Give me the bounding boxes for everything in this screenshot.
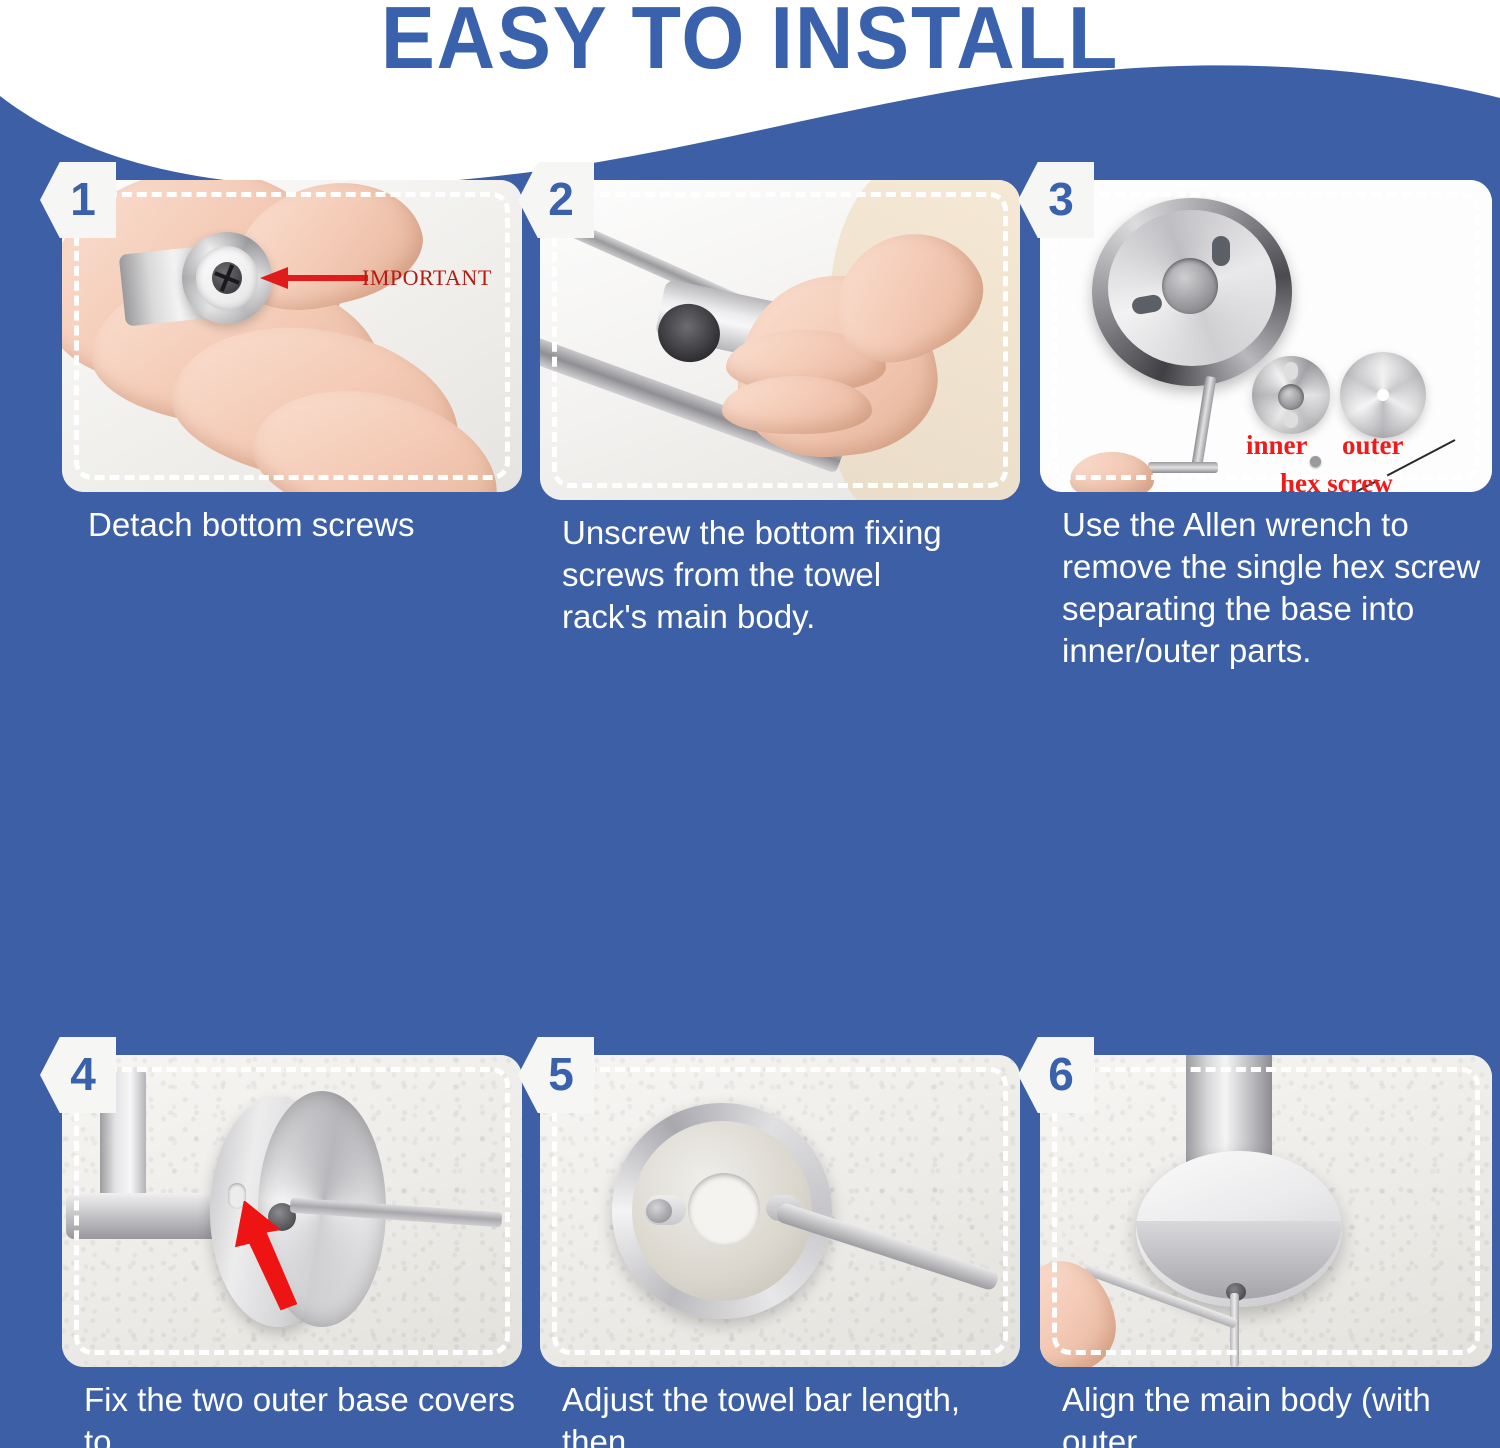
- infographic-page: EASY TO INSTALL: [0, 0, 1500, 1448]
- important-arrow-icon: [258, 264, 370, 292]
- step-4-caption: Fix the two outer base covers to the mai…: [62, 1379, 522, 1448]
- step-2-scene: [540, 180, 1020, 500]
- outer-disc-center-hole: [1377, 389, 1389, 401]
- inner-disc-slot: [1284, 412, 1298, 428]
- step-3-caption: Use the Allen wrench to remove the singl…: [1040, 504, 1492, 672]
- allen-wrench-short-arm: [1148, 462, 1218, 473]
- step-5-caption: Adjust the towel bar length, then hold t…: [540, 1379, 1020, 1448]
- step-card-4: 4 Fix the two outer base covers to the m…: [62, 1055, 522, 1448]
- hex-screw-part: [1310, 456, 1321, 467]
- step-3-scene: inner outer hex screw: [1040, 180, 1492, 492]
- step-2-photo: [540, 180, 1020, 500]
- allen-wrench-long-arm: [1230, 1293, 1239, 1367]
- step-number-1: 1: [60, 176, 96, 224]
- inner-base-center-hole: [688, 1173, 760, 1245]
- steps-grid: IMPORTANT 1 Detach bottom screws: [0, 180, 1500, 1448]
- hex-hole-slot: [1212, 236, 1230, 266]
- inner-disc-center-hole: [1278, 384, 1304, 410]
- outer-part-label: outer: [1342, 430, 1403, 461]
- step-2-caption: Unscrew the bottom fixing screws from th…: [540, 512, 1020, 638]
- step-1-caption: Detach bottom screws: [62, 504, 522, 546]
- rack-horizontal-arm: [66, 1193, 226, 1239]
- step-6-photo-wrap: 6: [1040, 1055, 1492, 1367]
- hex-screw-part-label: hex screw: [1280, 468, 1393, 492]
- inner-part-label: inner: [1246, 430, 1308, 461]
- step-number-3: 3: [1038, 176, 1074, 224]
- step-number-2: 2: [538, 176, 574, 224]
- inner-disc-slot: [1284, 362, 1298, 380]
- step-number-5: 5: [538, 1051, 574, 1099]
- hex-hole-arrow-icon: [222, 1201, 314, 1311]
- header-banner: EASY TO INSTALL: [0, 0, 1500, 180]
- step-4-photo-wrap: 4: [62, 1055, 522, 1367]
- step-card-6: 6 Align the main body (with outer covers…: [1040, 1055, 1492, 1448]
- step-6-caption: Align the main body (with outer covers) …: [1040, 1379, 1492, 1448]
- important-label: IMPORTANT: [362, 265, 492, 291]
- mounting-screw-head: [646, 1199, 672, 1223]
- step-card-3: inner outer hex screw 3 Use the Allen wr…: [1040, 180, 1492, 672]
- step-4-scene: [62, 1055, 522, 1367]
- step-number-6: 6: [1038, 1051, 1074, 1099]
- step-5-photo-wrap: 5: [540, 1055, 1020, 1367]
- step-6-scene: [1040, 1055, 1492, 1367]
- step-card-2: 2 Unscrew the bottom fixing screws from …: [540, 180, 1020, 638]
- step-3-photo: inner outer hex screw: [1040, 180, 1492, 492]
- step-5-scene: [540, 1055, 1020, 1367]
- step-number-badge-4: 4: [40, 1037, 116, 1113]
- step-card-5: 5 Adjust the towel bar length, then hold…: [540, 1055, 1020, 1448]
- step-3-photo-wrap: inner outer hex screw 3: [1040, 180, 1492, 492]
- steps-row-bottom: 4 Fix the two outer base covers to the m…: [0, 725, 1500, 1448]
- step-number-badge-6: 6: [1018, 1037, 1094, 1113]
- step-number-badge-5: 5: [518, 1037, 594, 1113]
- step-2-photo-wrap: 2: [540, 180, 1020, 500]
- step-1-scene: IMPORTANT: [62, 180, 522, 492]
- step-number-4: 4: [60, 1051, 96, 1099]
- page-title: EASY TO INSTALL: [60, 0, 1440, 80]
- step-5-photo: [540, 1055, 1020, 1367]
- step-6-photo: [1040, 1055, 1492, 1367]
- step-1-photo: IMPORTANT: [62, 180, 522, 492]
- center-hole: [1162, 258, 1218, 314]
- step-1-photo-wrap: IMPORTANT 1: [62, 180, 522, 492]
- step-card-1: IMPORTANT 1 Detach bottom screws: [62, 180, 522, 546]
- steps-row-top: IMPORTANT 1 Detach bottom screws: [0, 180, 1500, 725]
- step-4-photo: [62, 1055, 522, 1367]
